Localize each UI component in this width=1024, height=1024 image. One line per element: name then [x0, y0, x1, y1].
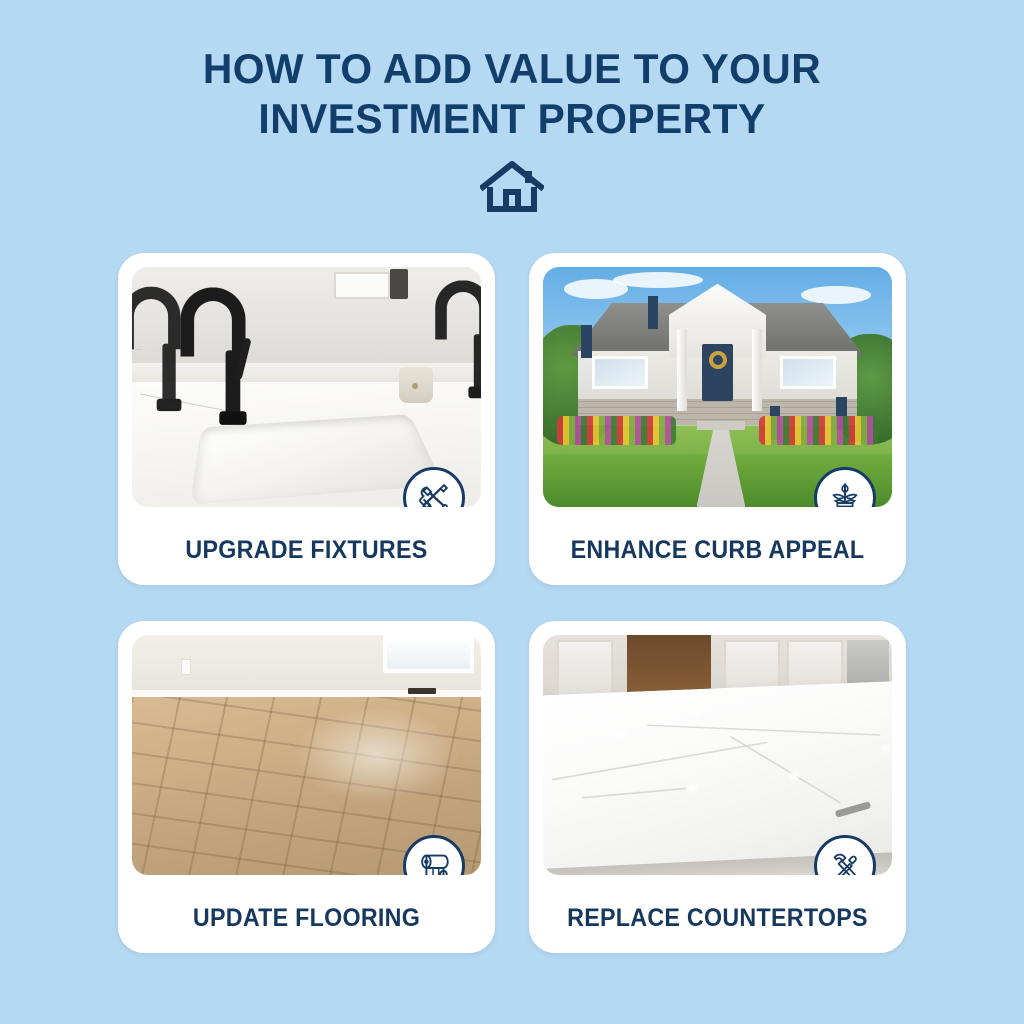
- card-label-replace-countertops: REPLACE COUNTERTOPS: [542, 904, 893, 933]
- card-label-upgrade-fixtures: UPGRADE FIXTURES: [131, 536, 482, 565]
- card-upgrade-fixtures[interactable]: UPGRADE FIXTURES: [118, 253, 495, 585]
- value-tips-grid: UPGRADE FIXTURES: [118, 253, 908, 953]
- card-label-enhance-curb-appeal: ENHANCE CURB APPEAL: [542, 536, 893, 565]
- photo-bathroom-vanity: [132, 267, 481, 507]
- photo-house-exterior: [543, 267, 892, 507]
- house-icon-wrapper: [0, 161, 1024, 218]
- card-replace-countertops[interactable]: REPLACE COUNTERTOPS: [529, 621, 906, 953]
- page-title-line-2: INVESTMENT PROPERTY: [15, 94, 1008, 144]
- photo-hardwood-floor: [132, 635, 481, 875]
- page-title-line-1: HOW TO ADD VALUE TO YOUR: [15, 44, 1008, 94]
- infographic-header: HOW TO ADD VALUE TO YOUR INVESTMENT PROP…: [0, 44, 1024, 218]
- card-enhance-curb-appeal[interactable]: ENHANCE CURB APPEAL: [529, 253, 906, 585]
- house-icon: [480, 161, 544, 218]
- photo-quartz-countertop: [543, 635, 892, 875]
- card-label-update-flooring: UPDATE FLOORING: [131, 904, 482, 933]
- card-update-flooring[interactable]: UPDATE FLOORING: [118, 621, 495, 953]
